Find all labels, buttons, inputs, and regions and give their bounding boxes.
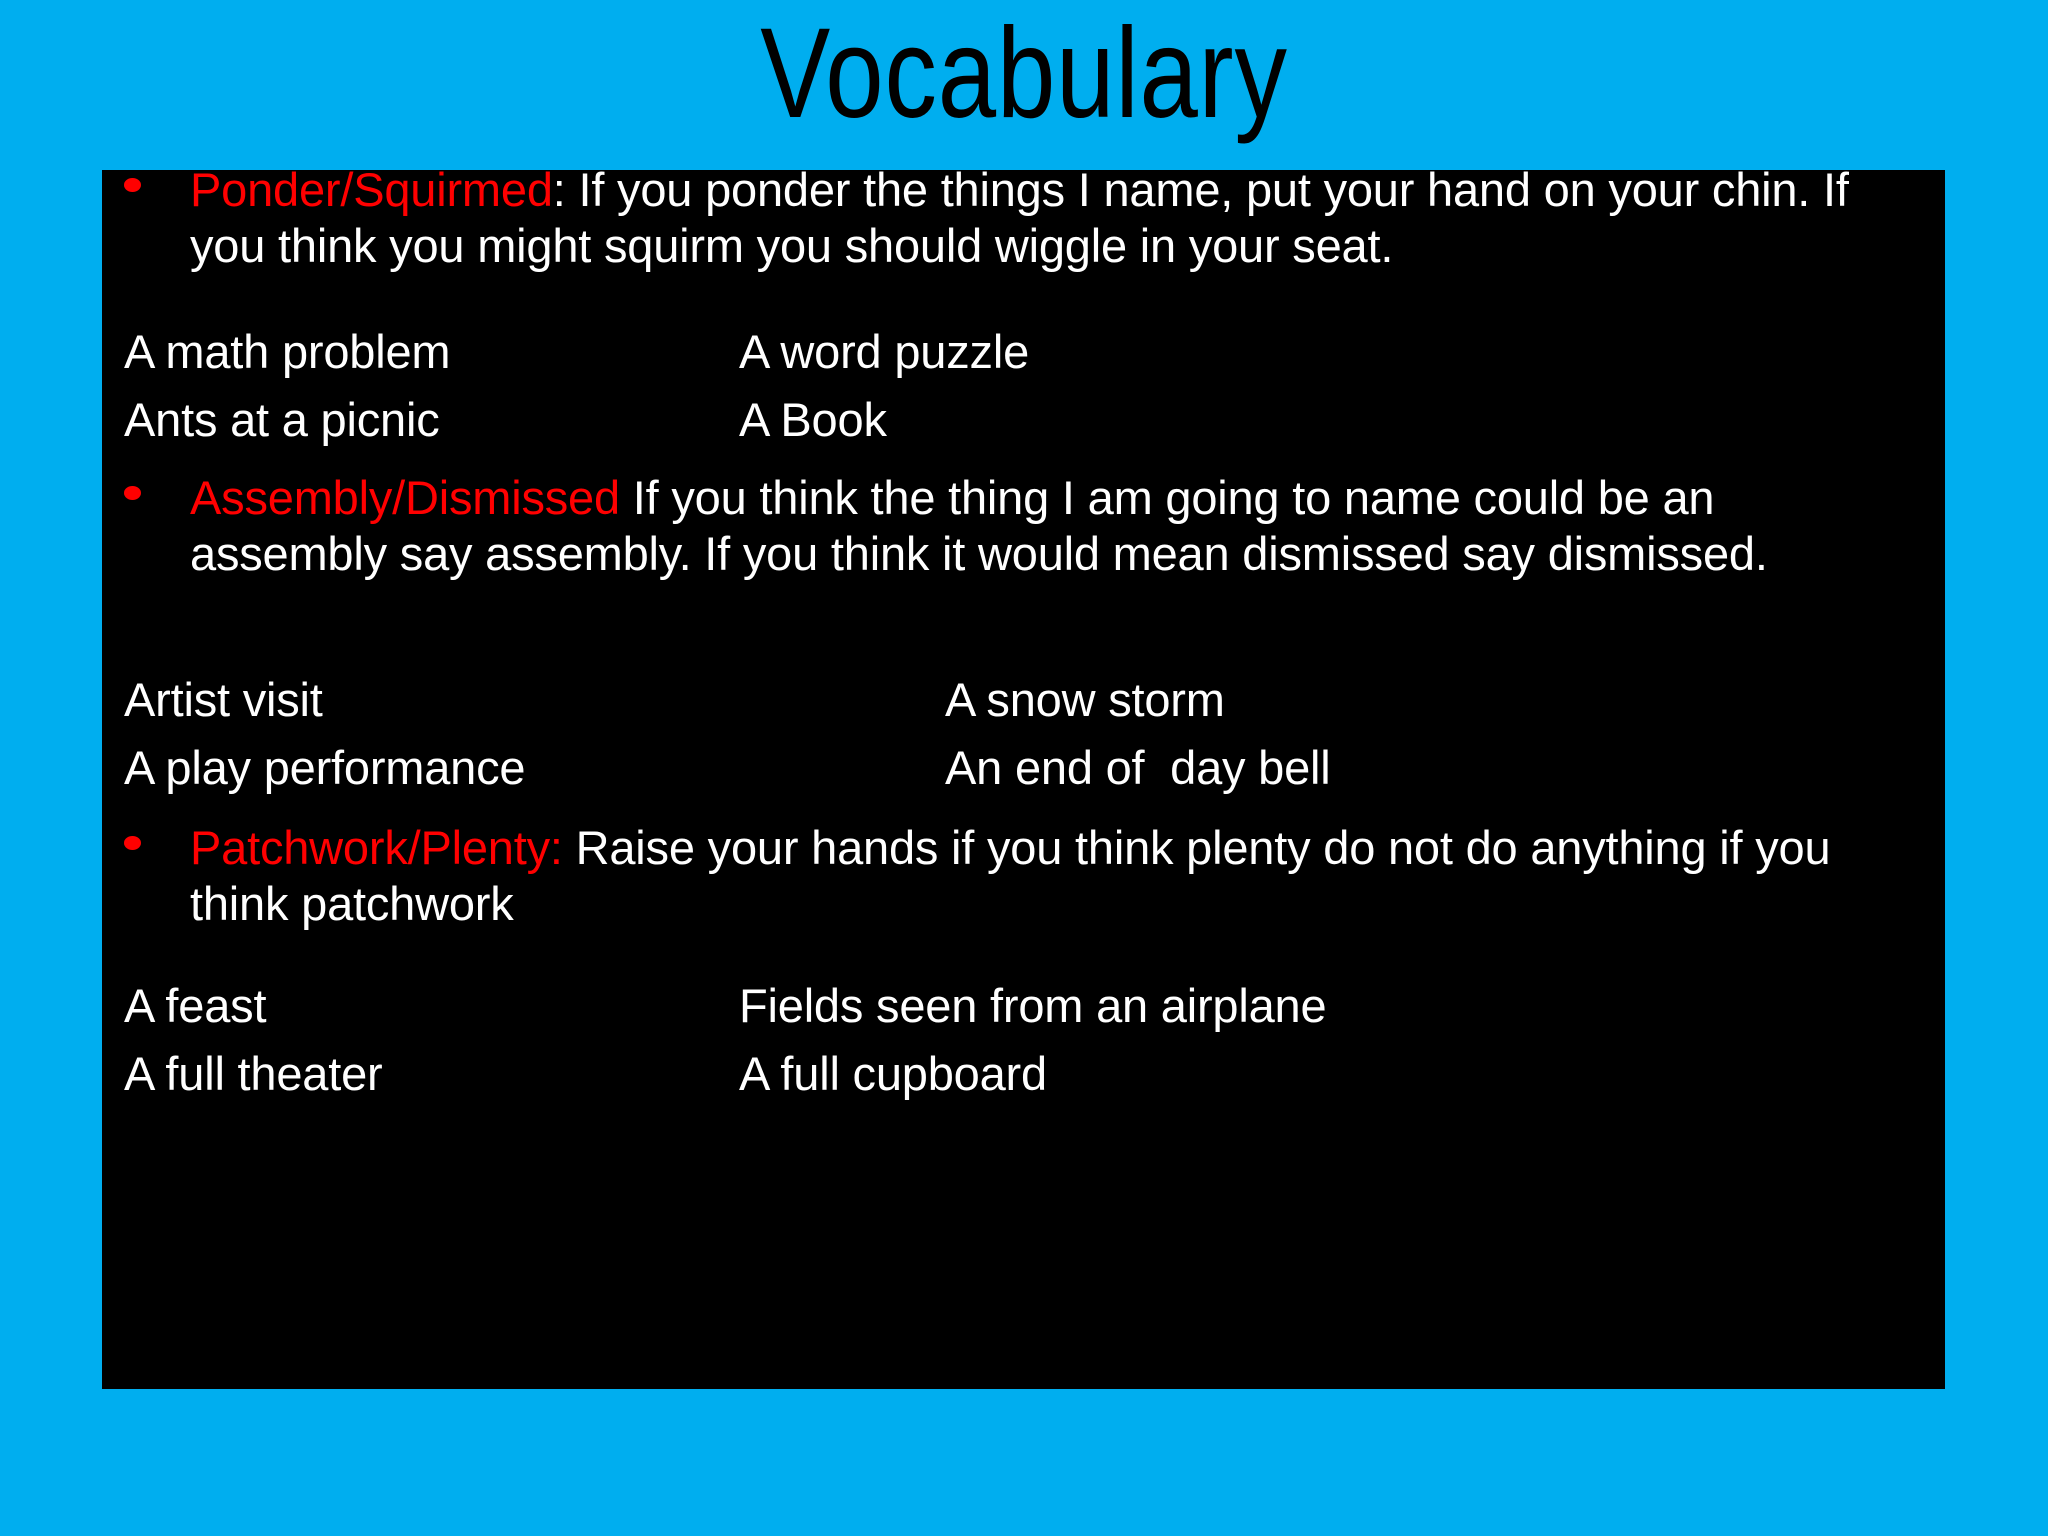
page-title: Vocabulary — [184, 14, 1863, 134]
answer-row: A feast Fields seen from an airplane — [102, 974, 1945, 1042]
answer-option: A word puzzle — [739, 320, 1029, 384]
bullet-dot-icon — [124, 178, 141, 192]
answer-row: A full theater A full cupboard — [102, 1042, 1945, 1110]
answer-option: Ants at a picnic — [124, 388, 440, 452]
vocab-keyword: Patchwork/Plenty: — [190, 821, 563, 874]
answer-list-assembly-dismissed: Artist visit A snow storm A play perform… — [102, 668, 1945, 804]
bullet-text: Ponder/Squirmed: If you ponder the thing… — [102, 162, 1945, 274]
bullet-item-patchwork-plenty: Patchwork/Plenty: Raise your hands if yo… — [102, 820, 1945, 932]
bullet-text: Assembly/Dismissed If you think the thin… — [102, 470, 1945, 582]
answer-list-ponder-squirmed: A math problem A word puzzle Ants at a p… — [102, 320, 1945, 456]
answer-row: Ants at a picnic A Book — [102, 388, 1945, 456]
answer-option: A Book — [739, 388, 887, 452]
answer-row: A math problem A word puzzle — [102, 320, 1945, 388]
answer-option: A feast — [124, 974, 266, 1038]
answer-row: A play performance An end of day bell — [102, 736, 1945, 804]
bullet-item-assembly-dismissed: Assembly/Dismissed If you think the thin… — [102, 470, 1945, 582]
content-panel: Ponder/Squirmed: If you ponder the thing… — [102, 170, 1945, 1389]
answer-option: Artist visit — [124, 668, 323, 732]
answer-row: Artist visit A snow storm — [102, 668, 1945, 736]
bullet-item-ponder-squirmed: Ponder/Squirmed: If you ponder the thing… — [102, 162, 1945, 274]
answer-option: A full cupboard — [739, 1042, 1047, 1106]
answer-option: An end of day bell — [945, 736, 1331, 800]
answer-option: A full theater — [124, 1042, 382, 1106]
answer-option: A play performance — [124, 736, 525, 800]
vocab-keyword: Assembly/Dismissed — [190, 471, 620, 524]
vocab-keyword: Ponder/Squirmed — [190, 163, 553, 216]
answer-option: A snow storm — [945, 668, 1225, 732]
answer-option: Fields seen from an airplane — [739, 974, 1326, 1038]
bullet-text: Patchwork/Plenty: Raise your hands if yo… — [102, 820, 1945, 932]
bullet-dot-icon — [124, 486, 141, 500]
answer-list-patchwork-plenty: A feast Fields seen from an airplane A f… — [102, 974, 1945, 1110]
bullet-dot-icon — [124, 836, 141, 850]
answer-option: A math problem — [124, 320, 450, 384]
